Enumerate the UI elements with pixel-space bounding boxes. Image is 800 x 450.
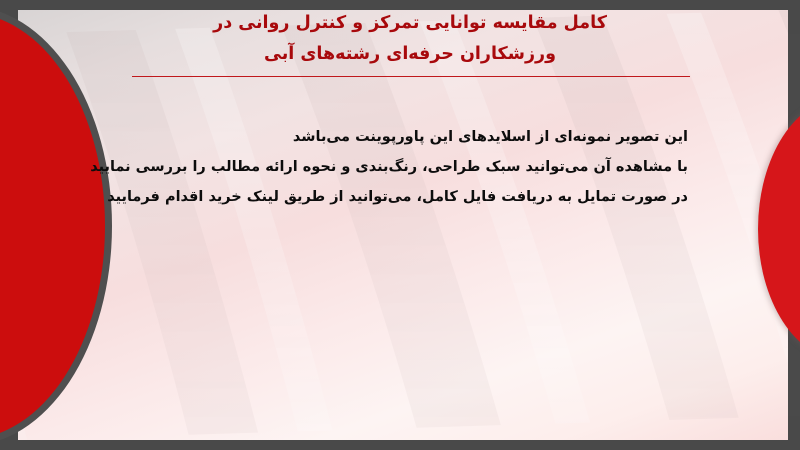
slide-title-line-2: ورزشکاران حرفه‌ای رشته‌های آبی — [120, 39, 700, 70]
background-texture-stripes — [18, 10, 788, 440]
slide-canvas-clip — [18, 10, 788, 440]
slide-body-line-3: در صورت تمایل به دریافت فایل کامل، می‌تو… — [68, 182, 688, 212]
slide-body-line-2: با مشاهده آن می‌توانید سبک طراحی، رنگ‌بن… — [68, 152, 688, 182]
title-underline-rule — [132, 76, 690, 77]
slide-body-text: این تصویر نمونه‌ای از اسلایدهای این پاور… — [68, 122, 688, 212]
presentation-slide: کامل مقایسه توانایی تمرکز و کنترل روانی … — [0, 0, 800, 450]
slide-title: کامل مقایسه توانایی تمرکز و کنترل روانی … — [120, 8, 700, 70]
slide-canvas — [18, 10, 788, 440]
slide-body-line-1: این تصویر نمونه‌ای از اسلایدهای این پاور… — [68, 122, 688, 152]
slide-title-line-1: کامل مقایسه توانایی تمرکز و کنترل روانی … — [120, 8, 700, 39]
